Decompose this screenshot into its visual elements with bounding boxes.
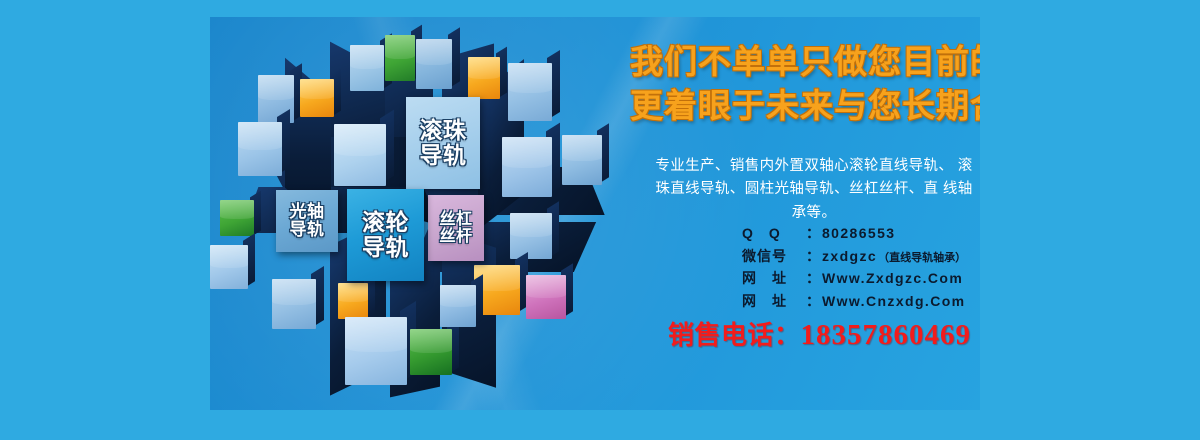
decor-cube-orange xyxy=(300,79,334,117)
decor-cube xyxy=(562,135,602,185)
contact-row-wechat: 微信号 ： zxdgzc （直线导轨轴承） xyxy=(742,245,980,268)
sales-phone-number[interactable]: 18357860469 xyxy=(801,319,972,351)
product-cube-gunlun-daogui[interactable]: 滚轮 导轨 xyxy=(347,189,424,281)
product-cube-line2: 导轨 xyxy=(420,143,467,168)
product-cube-line1: 丝杠 xyxy=(439,211,472,228)
contact-separator: ： xyxy=(806,267,820,290)
decor-cube-green xyxy=(385,35,415,81)
product-cube-line2: 导轨 xyxy=(290,221,325,239)
decor-cube-green xyxy=(410,329,452,375)
decor-cube xyxy=(416,39,452,89)
headline: 我们不单单只做您目前的订单 更着眼于未来与您长期合作 xyxy=(630,40,978,128)
product-cube-line2: 导轨 xyxy=(362,235,409,260)
decor-cube xyxy=(345,317,407,385)
contact-row-qq: Q Q ： 80286553 xyxy=(742,222,980,245)
decor-cube-green xyxy=(220,200,254,236)
sales-phone[interactable]: 销售电话：18357860469 xyxy=(668,315,971,352)
product-cube-line1: 光轴 xyxy=(290,203,325,221)
contact-separator: ： xyxy=(806,245,820,268)
promo-banner: 滚珠 导轨 光轴 导轨 丝杠 丝杆 滚轮 导轨 xyxy=(210,17,980,410)
contact-value-qq[interactable]: 80286553 xyxy=(822,222,896,245)
decor-cube-orange xyxy=(468,57,500,99)
product-cube-line1: 滚轮 xyxy=(362,210,409,235)
decor-cube xyxy=(510,213,552,259)
contact-value-wechat[interactable]: zxdgzc xyxy=(822,245,877,268)
cube-cluster-artwork: 滚珠 导轨 光轴 导轨 丝杠 丝杆 滚轮 导轨 xyxy=(210,17,630,410)
contact-separator: ： xyxy=(806,290,820,313)
banner-stage: 滚珠 导轨 光轴 导轨 丝杠 丝杆 滚轮 导轨 xyxy=(0,0,1200,440)
contact-row-website-2: 网 址 ： Www.Cnzxdg.Com xyxy=(742,290,980,313)
product-cube-line1: 滚珠 xyxy=(420,118,467,143)
contact-value-website-1[interactable]: Www.Zxdgzc.Com xyxy=(822,267,963,290)
decor-cube xyxy=(272,279,316,329)
product-cube-guangzhou-daogui[interactable]: 光轴 导轨 xyxy=(276,190,338,252)
description: 专业生产、销售内外置双轴心滚轮直线导轨、 滚珠直线导轨、圆柱光轴导轨、丝杠丝杆、… xyxy=(654,155,974,225)
decor-cube xyxy=(508,63,552,121)
decor-cube xyxy=(210,245,248,289)
product-cube-line2: 丝杆 xyxy=(439,228,472,245)
decor-cube xyxy=(440,285,476,327)
product-cube-sigang-sigan[interactable]: 丝杠 丝杆 xyxy=(428,195,484,261)
contact-value-website-2[interactable]: Www.Cnzxdg.Com xyxy=(822,290,966,313)
contact-note-wechat: （直线导轨轴承） xyxy=(878,250,966,268)
decor-cube xyxy=(502,137,552,197)
sales-phone-label: 销售电话： xyxy=(668,320,801,350)
decor-cube xyxy=(238,122,282,176)
banner-content: 我们不单单只做您目前的订单 更着眼于未来与您长期合作 专业生产、销售内外置双轴心… xyxy=(630,17,980,410)
headline-line2: 更着眼于未来与您长期合作 xyxy=(630,84,978,128)
contact-separator: ： xyxy=(806,222,820,245)
decor-cube-pink xyxy=(526,275,566,319)
decor-cube xyxy=(350,45,384,91)
decor-cube xyxy=(334,124,386,186)
product-cube-gunzhu-daogui[interactable]: 滚珠 导轨 xyxy=(406,97,480,189)
description-line1: 专业生产、销售内外置双轴心滚轮直线导轨、 xyxy=(655,158,953,174)
decor-cube-orange xyxy=(338,283,368,319)
contact-row-website-1: 网 址 ： Www.Zxdgzc.Com xyxy=(742,267,980,290)
headline-line1: 我们不单单只做您目前的订单 xyxy=(630,40,978,84)
contact-label: 网 址 xyxy=(742,267,806,290)
contact-label: 微信号 xyxy=(742,245,806,268)
contact-label: 网 址 xyxy=(742,290,806,313)
contact-label: Q Q xyxy=(742,222,806,245)
contact-list: Q Q ： 80286553 微信号 ： zxdgzc （直线导轨轴承） 网 址… xyxy=(742,222,980,313)
